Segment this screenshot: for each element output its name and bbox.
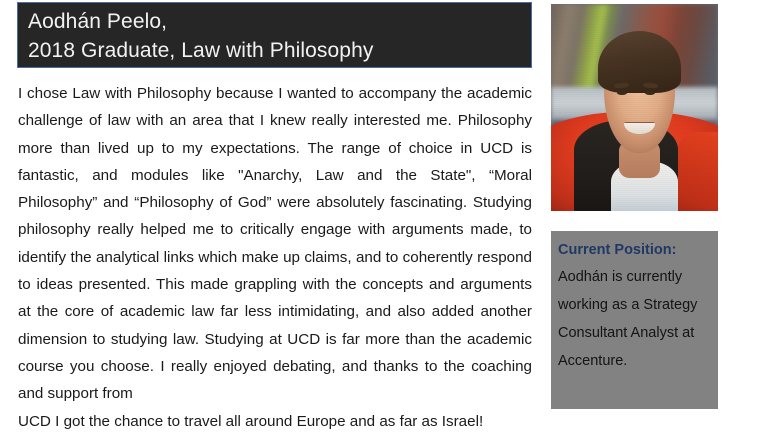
current-position-text: Aodhán is currently working as a Strateg… xyxy=(558,263,710,375)
right-sidebar-column: Current Position: Aodhán is currently wo… xyxy=(551,0,762,429)
graduate-credential: 2018 Graduate, Law with Philosophy xyxy=(28,36,531,65)
photo-eyebrow-right xyxy=(643,82,658,88)
testimonial-last-line: UCD I got the chance to travel all aroun… xyxy=(18,413,483,430)
photo-eye-right xyxy=(645,91,655,95)
photo-jacket-right-shoulder xyxy=(671,132,718,211)
graduate-portrait-photo xyxy=(551,4,718,211)
testimonial-paragraph: I chose Law with Philosophy because I wa… xyxy=(18,80,532,435)
current-position-heading: Current Position: xyxy=(558,238,710,263)
profile-name-banner: Aodhán Peelo, 2018 Graduate, Law with Ph… xyxy=(17,2,532,68)
photo-eye-left xyxy=(617,91,627,95)
graduate-name: Aodhán Peelo, xyxy=(28,7,531,36)
current-position-card: Current Position: Aodhán is currently wo… xyxy=(551,231,718,409)
testimonial-body: I chose Law with Philosophy because I wa… xyxy=(18,85,532,402)
left-content-column: Aodhán Peelo, 2018 Graduate, Law with Ph… xyxy=(0,0,540,429)
